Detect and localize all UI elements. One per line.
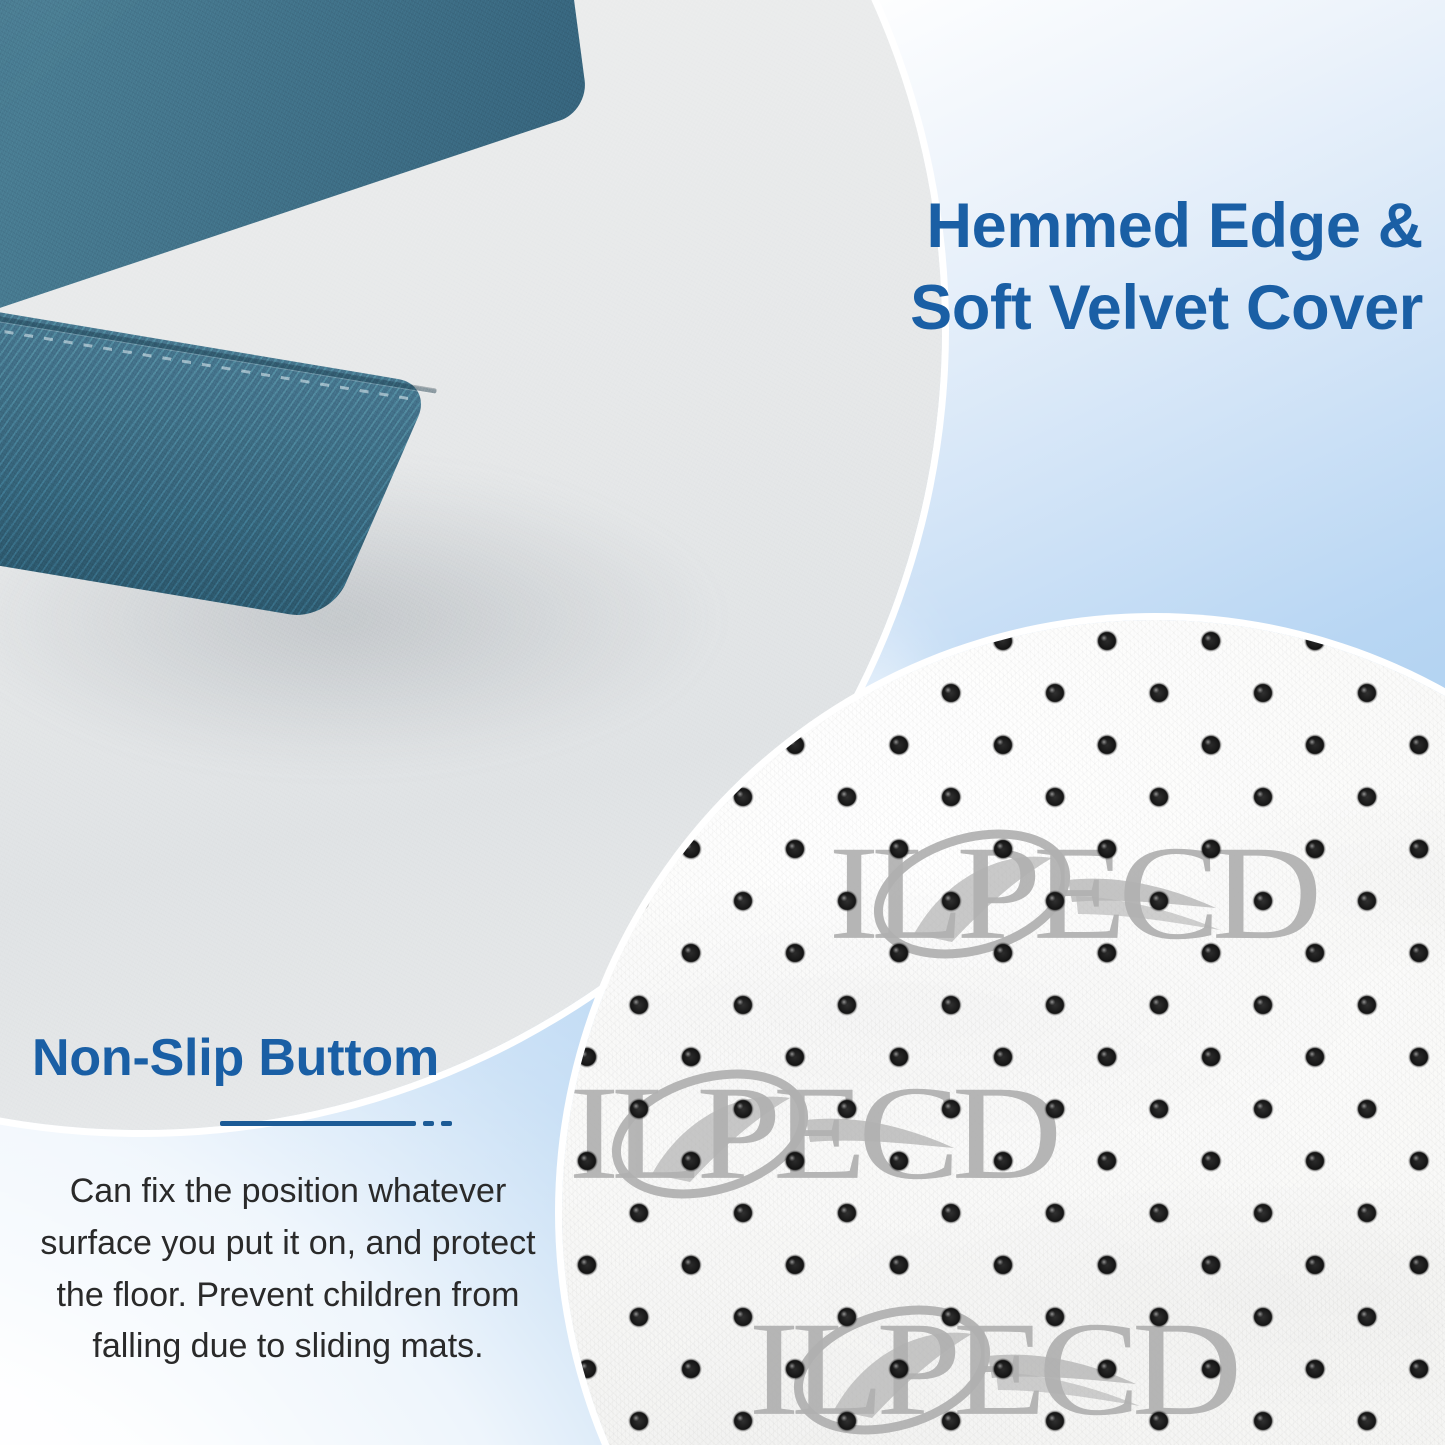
headline: Hemmed Edge & Soft Velvet Cover [703, 186, 1423, 350]
mat-base-surface: ILPECD ILPECD ILPECD [562, 620, 1445, 1445]
feature-block: Non-Slip Buttom Can fix the position wha… [18, 1030, 558, 1373]
feature-title: Non-Slip Buttom [18, 1030, 558, 1087]
divider-dash-1 [423, 1121, 434, 1126]
feature-divider [18, 1121, 558, 1126]
divider-rule [220, 1121, 416, 1126]
feature-body: Can fix the position whatever surface yo… [18, 1166, 558, 1373]
product-feature-graphic: ILPECD ILPECD ILPECD [0, 0, 1445, 1445]
divider-dash-2 [441, 1121, 452, 1126]
mat-grip-dots-gloss-b [562, 620, 1445, 1445]
headline-line-1: Hemmed Edge & [703, 186, 1423, 268]
headline-line-2: Soft Velvet Cover [703, 268, 1423, 350]
mat-photo-circle: ILPECD ILPECD ILPECD [562, 620, 1445, 1445]
